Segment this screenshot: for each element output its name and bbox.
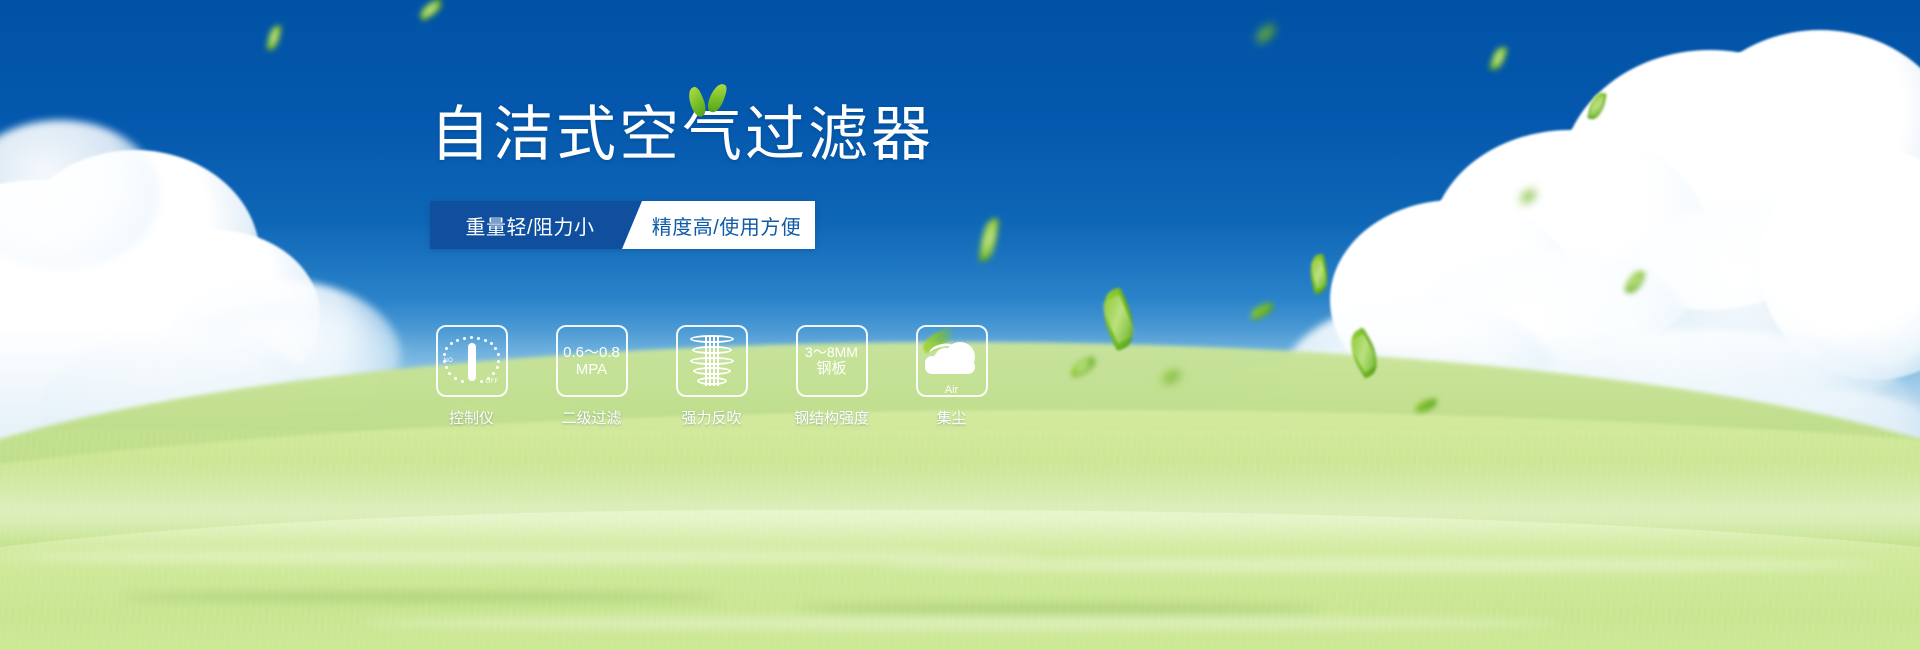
air-cloud-icon: Air bbox=[923, 340, 981, 382]
hero-banner: 自洁式空气过滤器 重量轻/阻力小 精度高/使用方便 bbox=[0, 0, 1920, 650]
feature-item-two-stage-filtration[interactable]: 0.6～0.8 MPA 二级过滤 bbox=[550, 325, 633, 428]
gauge-off-label: OFF bbox=[486, 379, 499, 385]
grass-sheen bbox=[0, 460, 1920, 550]
feature-label-controller: 控制仪 bbox=[449, 407, 494, 428]
hill-mid bbox=[0, 410, 1920, 580]
feature-item-dust-collection[interactable]: Air 集尘 bbox=[910, 325, 993, 428]
feature-label-dust-collection: 集尘 bbox=[936, 407, 966, 428]
grass-texture bbox=[0, 430, 1920, 650]
feature-box-dust-collection: Air bbox=[916, 325, 988, 397]
tab-secondary-label: 精度高/使用方便 bbox=[652, 211, 802, 240]
coil-spring-icon bbox=[685, 333, 739, 389]
tab-high-precision-easy-use[interactable]: 精度高/使用方便 bbox=[622, 201, 815, 249]
feature-item-back-blow[interactable]: 强力反吹 bbox=[670, 325, 753, 428]
page-title: 自洁式空气过滤器 bbox=[430, 105, 1070, 165]
feature-box-back-blow bbox=[676, 325, 748, 397]
feature-tab-group: 重量轻/阻力小 精度高/使用方便 bbox=[430, 201, 825, 249]
hill-near bbox=[0, 510, 1920, 650]
feature-label-two-stage-filtration: 二级过滤 bbox=[561, 407, 621, 428]
feature-label-steel-strength: 钢结构强度 bbox=[794, 407, 869, 428]
air-label-text: Air bbox=[923, 384, 981, 396]
pressure-value-text: 0.6～0.8 bbox=[563, 344, 620, 361]
feature-label-back-blow: 强力反吹 bbox=[681, 407, 741, 428]
gauge-dial-icon: NO OFF bbox=[443, 334, 501, 388]
banner-content: 自洁式空气过滤器 重量轻/阻力小 精度高/使用方便 bbox=[430, 105, 1070, 249]
feature-box-controller: NO OFF bbox=[436, 325, 508, 397]
feature-box-steel-plate: 3～8MM 钢板 bbox=[796, 325, 868, 397]
steel-thickness-text: 3～8MM bbox=[805, 344, 858, 360]
feature-icon-row: NO OFF 控制仪 0.6～0.8 MPA 二级过滤 bbox=[430, 325, 993, 428]
gauge-needle-icon bbox=[468, 343, 476, 381]
pressure-unit-text: MPA bbox=[576, 361, 607, 378]
feature-box-pressure: 0.6～0.8 MPA bbox=[556, 325, 628, 397]
feature-item-controller[interactable]: NO OFF 控制仪 bbox=[430, 325, 513, 428]
feature-item-steel-strength[interactable]: 3～8MM 钢板 钢结构强度 bbox=[790, 325, 873, 428]
tab-primary-label: 重量轻/阻力小 bbox=[465, 211, 594, 240]
steel-plate-text: 钢板 bbox=[816, 360, 846, 377]
sprout-leaf-icon bbox=[688, 83, 734, 117]
tab-lightweight-low-resistance[interactable]: 重量轻/阻力小 bbox=[430, 201, 642, 249]
gauge-no-label: NO bbox=[444, 358, 454, 364]
